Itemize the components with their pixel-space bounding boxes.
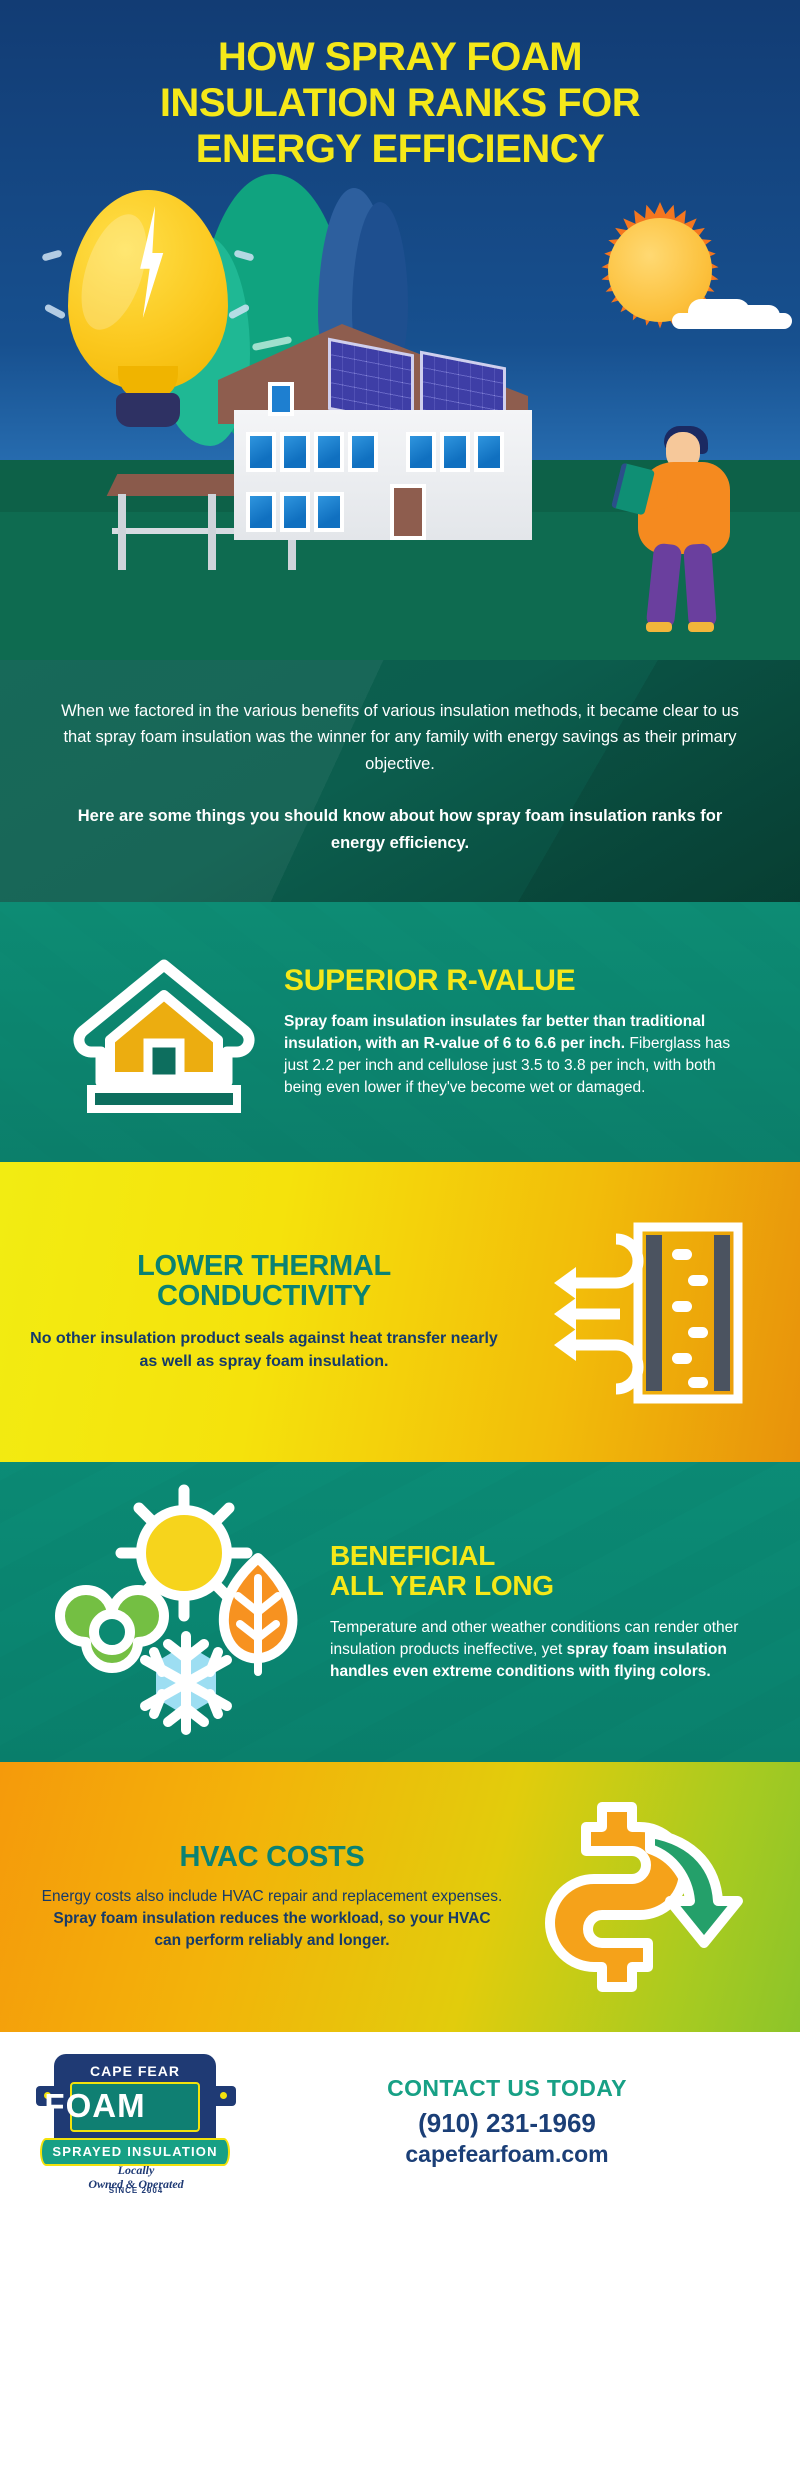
section-heading-line-2: CONDUCTIVITY bbox=[28, 1281, 500, 1312]
snowflake-icon bbox=[145, 1636, 227, 1730]
section-body: Energy costs also include HVAC repair an… bbox=[40, 1886, 504, 1952]
contact-block: CONTACT US TODAY (910) 231-1969 capefear… bbox=[260, 2075, 764, 2168]
shoe-right bbox=[688, 622, 714, 632]
title-line-3: ENERGY EFFICIENCY bbox=[58, 126, 742, 172]
section-text: SUPERIOR R-VALUE Spray foam insulation i… bbox=[284, 965, 764, 1099]
website-link[interactable]: capefearfoam.com bbox=[260, 2141, 754, 2168]
hero-illustration bbox=[0, 180, 800, 660]
intro-emphasis: Here are some things you should know abo… bbox=[58, 803, 742, 856]
logo-banner: SPRAYED INSULATION bbox=[40, 2138, 230, 2166]
section-body: No other insulation product seals agains… bbox=[28, 1328, 500, 1373]
section-heading-line-2: ALL YEAR LONG bbox=[330, 1571, 760, 1601]
section-heading-line-1: LOWER THERMAL bbox=[28, 1251, 500, 1282]
contact-heading: CONTACT US TODAY bbox=[260, 2075, 754, 2102]
section-heading: BENEFICIAL ALL YEAR LONG bbox=[330, 1541, 760, 1600]
window-row-upper-right bbox=[406, 432, 504, 472]
shoe-left bbox=[646, 622, 672, 632]
heat-transfer-wall-icon bbox=[510, 1217, 760, 1407]
leg-left bbox=[646, 543, 683, 629]
hero-section: HOW SPRAY FOAM INSULATION RANKS FOR ENER… bbox=[0, 0, 800, 660]
section-body-rest: Energy costs also include HVAC repair an… bbox=[42, 1888, 503, 1905]
section-text: LOWER THERMAL CONDUCTIVITY No other insu… bbox=[28, 1251, 510, 1374]
footer: CAPE FEAR FOAM SPRAYED INSULATION Locall… bbox=[0, 2032, 800, 2211]
intro-section: When we factored in the various benefits… bbox=[0, 660, 800, 902]
house-icon bbox=[44, 947, 284, 1117]
section-heading: SUPERIOR R-VALUE bbox=[284, 965, 750, 997]
intro-paragraph: When we factored in the various benefits… bbox=[58, 698, 742, 777]
front-door bbox=[390, 484, 426, 540]
company-logo[interactable]: CAPE FEAR FOAM SPRAYED INSULATION Locall… bbox=[30, 2046, 240, 2196]
logo-banner-text: SPRAYED INSULATION bbox=[42, 2140, 228, 2164]
window-row-upper-left bbox=[246, 432, 378, 472]
section-lower-thermal-conductivity: LOWER THERMAL CONDUCTIVITY No other insu… bbox=[0, 1162, 800, 1462]
title-line-2: INSULATION RANKS FOR bbox=[58, 80, 742, 126]
section-heading: HVAC COSTS bbox=[40, 1842, 504, 1873]
section-heading-line-1: BENEFICIAL bbox=[330, 1541, 760, 1571]
section-beneficial-all-year-long: BENEFICIAL ALL YEAR LONG Temperature and… bbox=[0, 1462, 800, 1762]
leaf-icon bbox=[224, 1558, 293, 1672]
page-title: HOW SPRAY FOAM INSULATION RANKS FOR ENER… bbox=[0, 0, 800, 172]
logo-script-line-1: Locally bbox=[76, 2164, 196, 2177]
four-seasons-icon bbox=[30, 1482, 330, 1742]
section-text: HVAC COSTS Energy costs also include HVA… bbox=[40, 1842, 510, 1953]
section-superior-r-value: SUPERIOR R-VALUE Spray foam insulation i… bbox=[0, 902, 800, 1162]
section-body: Temperature and other weather conditions… bbox=[330, 1617, 760, 1683]
dollar-down-arrow-icon bbox=[510, 1797, 770, 1997]
logo-main-text: FOAM bbox=[30, 2084, 160, 2128]
section-heading: LOWER THERMAL CONDUCTIVITY bbox=[28, 1251, 500, 1312]
logo-since-text: SINCE 2004 bbox=[76, 2186, 196, 2195]
person-illustration bbox=[632, 432, 742, 632]
house-illustration bbox=[210, 324, 580, 584]
leg-right bbox=[683, 543, 717, 629]
attic-window bbox=[268, 382, 294, 416]
cloud-icon bbox=[672, 295, 792, 329]
section-body: Spray foam insulation insulates far bett… bbox=[284, 1011, 750, 1099]
logo-top-text: CAPE FEAR bbox=[74, 2060, 196, 2082]
infographic-page: HOW SPRAY FOAM INSULATION RANKS FOR ENER… bbox=[0, 0, 800, 2469]
window-row-lower-left bbox=[246, 492, 344, 532]
section-body-bold: Spray foam insulation reduces the worklo… bbox=[53, 1910, 490, 1949]
section-text: BENEFICIAL ALL YEAR LONG Temperature and… bbox=[330, 1541, 760, 1682]
section-hvac-costs: HVAC COSTS Energy costs also include HVA… bbox=[0, 1762, 800, 2032]
phone-number[interactable]: (910) 231-1969 bbox=[260, 2108, 754, 2139]
title-line-1: HOW SPRAY FOAM bbox=[58, 34, 742, 80]
